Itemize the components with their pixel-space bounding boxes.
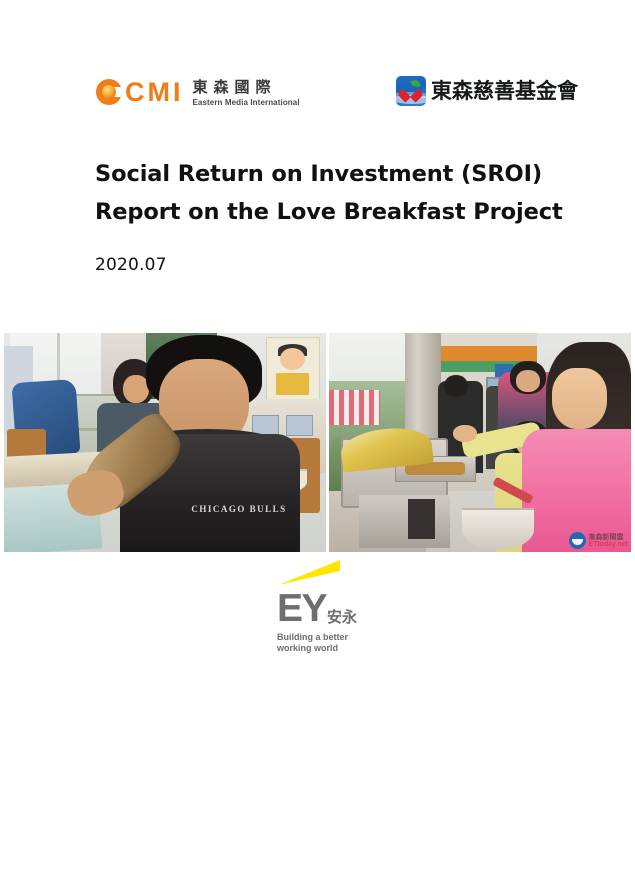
ey-tagline-line-2: working world bbox=[277, 643, 348, 654]
emi-chinese-name: 東森國際 bbox=[193, 79, 300, 96]
ey-chinese-name: 安永 bbox=[327, 609, 357, 626]
page-title: Social Return on Investment (SROI) Repor… bbox=[95, 155, 565, 231]
watermark-chinese: 東森新聞雲 bbox=[588, 533, 628, 541]
emi-logo: CMI 東森國際 Eastern Media International bbox=[96, 78, 300, 108]
ey-logo: EY 安永 Building a better working world bbox=[277, 560, 373, 655]
header-logo-row: CMI 東森國際 Eastern Media International 東森慈… bbox=[0, 74, 635, 118]
heart-leaf-square-icon bbox=[396, 76, 426, 106]
ettoday-circle-icon bbox=[569, 532, 586, 549]
ey-beam-icon bbox=[278, 560, 340, 586]
children-buffet-photo: 東森新聞雲 ETtoday.net bbox=[329, 333, 631, 552]
charity-chinese-name: 東森慈善基金會 bbox=[431, 79, 578, 103]
ey-tagline: Building a better working world bbox=[277, 632, 348, 653]
watermark-english: ETtoday.net bbox=[588, 541, 628, 549]
boy-eating-breakfast-photo: CHICAGO BULLS bbox=[4, 333, 326, 552]
emi-english-name: Eastern Media International bbox=[193, 97, 300, 108]
ey-tagline-line-1: Building a better bbox=[277, 632, 348, 643]
charity-foundation-logo: 東森慈善基金會 bbox=[396, 76, 578, 106]
ettoday-watermark: 東森新聞雲 ETtoday.net bbox=[569, 532, 628, 549]
cover-photo-strip: CHICAGO BULLS bbox=[0, 333, 635, 552]
title-line-1: Social Return on Investment (SROI) bbox=[95, 155, 565, 193]
ey-logo-letters: EY bbox=[277, 590, 326, 628]
hoodie-text: CHICAGO BULLS bbox=[184, 504, 293, 543]
title-line-2: Report on the Love Breakfast Project bbox=[95, 193, 565, 231]
emi-logo-letters: CMI bbox=[125, 78, 184, 106]
document-cover-page: CMI 東森國際 Eastern Media International 東森慈… bbox=[0, 0, 635, 895]
document-date: 2020.07 bbox=[95, 255, 167, 275]
emi-c-globe-icon bbox=[96, 79, 122, 105]
